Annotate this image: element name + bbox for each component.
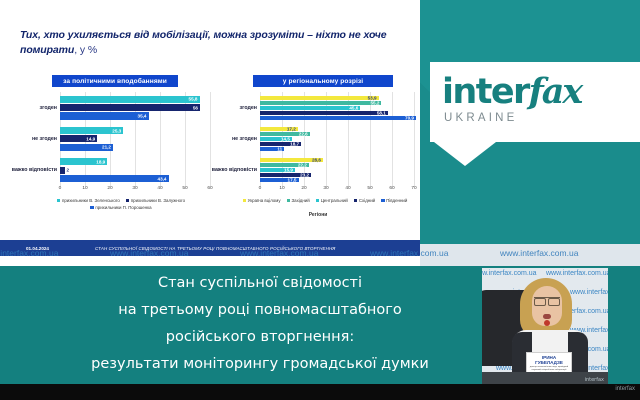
legend-item[interactable]: Західний xyxy=(287,198,310,203)
bar: 14,9 xyxy=(60,135,97,142)
bar-value-label: 2 xyxy=(67,168,70,173)
legend-right: Україна вціломуЗахіднийЦентральнийСхідни… xyxy=(232,198,418,203)
speaker-name-line-2: ГУБЕЛАДЗЕ xyxy=(529,360,569,365)
bar: 43,4 xyxy=(60,175,169,182)
legend-left: прихильники В. Зеленськогоприхильники В.… xyxy=(28,198,214,210)
bottom-letterbox xyxy=(0,384,640,400)
legend-item[interactable]: прихильники В. Зеленського xyxy=(57,198,120,203)
glasses-icon xyxy=(534,297,560,303)
axis-tick-label: 40 xyxy=(157,186,162,191)
bar: 45,6 xyxy=(260,106,360,110)
legend-label: Південний xyxy=(386,198,407,203)
legend-label: прихильники В. Залужного xyxy=(131,198,185,203)
legend-label: Західний xyxy=(292,198,310,203)
bar: 14,5 xyxy=(260,137,292,141)
interfax-logo: interfax UKRAINE xyxy=(430,62,640,142)
legend-item[interactable]: Східний xyxy=(354,198,375,203)
bar: 21,2 xyxy=(60,144,113,151)
x-axis-title-right: Регіони xyxy=(218,212,418,218)
caption-line-2: на третьому році повномасштабного xyxy=(0,297,520,324)
bar: 23,2 xyxy=(260,173,311,177)
x-axis-right: 010203040506070 xyxy=(260,186,414,196)
category-label: згоден xyxy=(40,105,57,111)
axis-tick-label: 10 xyxy=(82,186,87,191)
legend-item[interactable]: Центральний xyxy=(316,198,348,203)
bar: 18,7 xyxy=(260,142,301,146)
bar: 18,9 xyxy=(60,158,107,165)
section-header-political: за політичними вподобаннями xyxy=(52,75,178,87)
brand-notch-decoration xyxy=(434,142,496,166)
microphone-icon xyxy=(544,320,550,326)
legend-swatch xyxy=(287,199,291,203)
axis-tick-label: 40 xyxy=(345,186,350,191)
caption-line-3: російського вторгнення: xyxy=(0,324,520,351)
speaker-watermark-text: www.interfax.com.ua xyxy=(546,270,608,277)
interfax-brand-panel: interfax UKRAINE xyxy=(420,0,640,262)
legend-label: Україна вцілому xyxy=(248,198,281,203)
legend-swatch xyxy=(126,199,130,203)
category-label: важко відповісти xyxy=(212,167,257,173)
axis-tick-label: 30 xyxy=(132,186,137,191)
legend-swatch xyxy=(90,206,94,210)
interfax-wordmark: interfax xyxy=(442,71,581,112)
bar: 22,6 xyxy=(260,132,310,136)
bar: 25,3 xyxy=(60,127,123,134)
axis-tick-label: 60 xyxy=(207,186,212,191)
bar-value-label: 56 xyxy=(193,105,198,110)
chart-regional-breakdown: згоден53,955,245,658,170,9не згоден17,22… xyxy=(218,90,418,222)
legend-swatch xyxy=(354,199,358,203)
axis-tick-label: 70 xyxy=(411,186,416,191)
caption-line-4: результати моніторингу громадської думки xyxy=(0,351,520,378)
plot-area-left: згоден55,85635,4не згоден25,314,921,2важ… xyxy=(60,92,210,186)
x-axis-left: 0102030405060 xyxy=(60,186,210,196)
footer-date: 01.04.2024 xyxy=(26,246,49,251)
axis-tick-label: 50 xyxy=(182,186,187,191)
axis-tick-label: 50 xyxy=(367,186,372,191)
bar: 55,8 xyxy=(60,96,200,103)
bar: 58,1 xyxy=(260,111,388,115)
category-label: важко відповісти xyxy=(12,167,57,173)
speaker-video-thumbnail[interactable]: www.interfax.com.uawww.interfax.com.uaww… xyxy=(482,268,608,386)
chart-political-preferences: згоден55,85635,4не згоден25,314,921,2важ… xyxy=(14,90,214,222)
bar-group: згоден53,955,245,658,170,9 xyxy=(260,95,414,120)
bar: 28,6 xyxy=(260,158,323,162)
axis-tick-label: 10 xyxy=(279,186,284,191)
slide-footer: 01.04.2024 СТАН СУСПІЛЬНОЇ СВІДОМОСТІ НА… xyxy=(0,240,420,256)
legend-label: прихильники В. Зеленського xyxy=(62,198,120,203)
slide-title-unit: , у % xyxy=(74,44,97,56)
category-label: згоден xyxy=(240,105,257,111)
presentation-slide: Тих, хто ухиляється від мобілізації, мож… xyxy=(0,0,640,400)
bar-value-label: 55,8 xyxy=(189,97,198,102)
speaker-mouth xyxy=(543,314,551,319)
bar-value-label: 25,3 xyxy=(112,128,121,133)
interfax-corner-logo-icon: interfax xyxy=(585,377,604,383)
legend-item[interactable]: Південний xyxy=(381,198,407,203)
bar-value-label: 21,2 xyxy=(102,145,111,150)
bar-value-label: 43,4 xyxy=(158,176,167,181)
bar-value-label: 70,9 xyxy=(405,115,414,120)
legend-label: Східний xyxy=(359,198,375,203)
bar-group: згоден55,85635,4 xyxy=(60,95,210,120)
speaker-watermark-text: www.interfax.com.ua xyxy=(482,270,537,277)
footer-caption: СТАН СУСПІЛЬНОЇ СВІДОМОСТІ НА ТРЕТЬОМУ Р… xyxy=(95,246,335,251)
legend-swatch xyxy=(316,199,320,203)
legend-item[interactable]: Україна вцілому xyxy=(243,198,281,203)
bar-group: важко відповісти18,9243,4 xyxy=(60,158,210,183)
bar-value-label: 11 xyxy=(277,147,282,152)
legend-item[interactable]: прихильники В. Залужного xyxy=(126,198,185,203)
bar: 70,9 xyxy=(260,116,416,120)
legend-item[interactable]: прихильники П. Порошенка xyxy=(90,205,151,210)
bar: 35,4 xyxy=(60,112,149,119)
bar: 15,9 xyxy=(260,168,295,172)
caption-text: Стан суспільної свідомості на третьому р… xyxy=(0,270,520,378)
gridline xyxy=(414,92,415,186)
page-title: Тих, хто ухиляється від мобілізації, мож… xyxy=(20,28,405,58)
bar: 56 xyxy=(60,104,200,111)
axis-tick-label: 0 xyxy=(59,186,62,191)
legend-label: прихильники П. Порошенка xyxy=(95,205,151,210)
bar-group: не згоден17,222,614,518,711 xyxy=(260,126,414,151)
bar-value-label: 17,5 xyxy=(288,178,297,183)
category-label: не згоден xyxy=(32,136,57,142)
bar: 17,2 xyxy=(260,127,298,131)
axis-tick-label: 20 xyxy=(301,186,306,191)
section-header-regional: у регіональному розрізі xyxy=(253,75,393,87)
bar: 22,2 xyxy=(260,163,309,167)
corner-brand-label: interfax xyxy=(615,386,635,392)
axis-tick-label: 0 xyxy=(259,186,262,191)
legend-swatch xyxy=(381,199,385,203)
speaker-watermark-text: www.interfax.com.ua xyxy=(570,289,608,296)
axis-tick-label: 60 xyxy=(389,186,394,191)
plot-area-right: згоден53,955,245,658,170,9не згоден17,22… xyxy=(260,92,414,186)
category-label: не згоден xyxy=(232,136,257,142)
bar: 11 xyxy=(260,147,284,151)
bar: 53,9 xyxy=(260,96,379,100)
bar-group: важко відповісти28,622,215,923,217,5 xyxy=(260,158,414,183)
legend-swatch xyxy=(243,199,247,203)
caption-line-1: Стан суспільної свідомості xyxy=(0,270,520,297)
bar-value-label: 35,4 xyxy=(138,114,147,119)
bar-group: не згоден25,314,921,2 xyxy=(60,126,210,151)
interfax-subtitle: UKRAINE xyxy=(444,112,518,124)
legend-label: Центральний xyxy=(321,198,348,203)
axis-tick-label: 20 xyxy=(107,186,112,191)
bar: 17,5 xyxy=(260,178,299,182)
legend-swatch xyxy=(57,199,61,203)
axis-tick-label: 30 xyxy=(323,186,328,191)
bar: 2 xyxy=(60,167,65,174)
bar-value-label: 14,9 xyxy=(86,136,95,141)
bar-value-label: 18,9 xyxy=(96,159,105,164)
bar: 55,2 xyxy=(260,101,381,105)
